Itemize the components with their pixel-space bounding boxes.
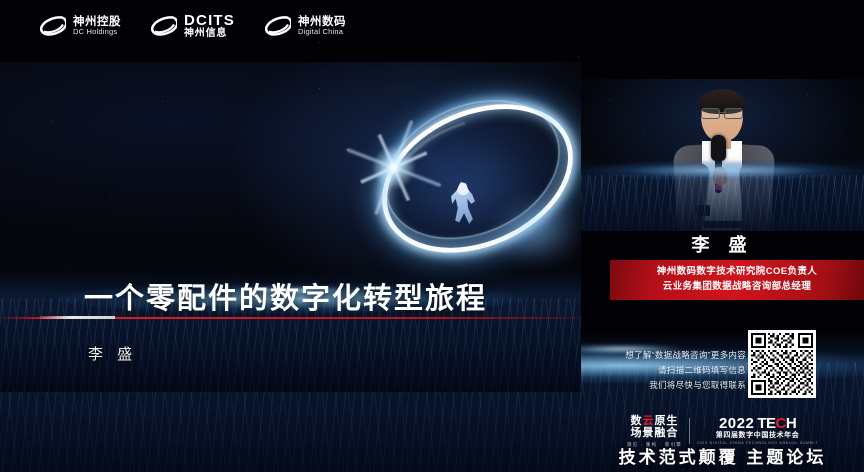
theme-char-shu: 数 [630,415,642,427]
video-horizon [581,159,864,231]
speaker-credentials-banner: 神州数码数字技术研究院COE负责人 云业务集团数据战略咨询部总经理 [610,260,864,300]
qr-line-2: 请扫描二维码填写信息 [625,363,746,378]
qr-instructions: 想了解“数据战略咨询”更多内容 请扫描二维码填写信息 我们将尽快与您取得联系 [625,348,746,393]
event-footer-bar: 数云原生 场景融合 洞见 · 重构 · 新引擎 2022 TECH 第四届数字中… [581,412,864,472]
logo-dcits: DCITS 神州信息 [151,13,235,39]
presentation-slide[interactable]: 一个零配件的数字化转型旅程 李 盛 [0,62,581,392]
credential-line-1: 神州数码数字技术研究院COE负责人 [610,265,864,280]
tech-h: H [786,415,796,432]
video-horizon-grid [581,175,864,231]
event-year-tech: 2022 TECH [719,416,796,433]
event-name-block: 2022 TECH 第四届数字中国技术年会 2022 DIGITAL CHINA… [697,416,818,446]
logo-name-en: Digital China [298,28,346,36]
logo-dc-holdings: 神州控股 DC Holdings [40,16,121,36]
logo-name-en: 神州信息 [184,29,235,40]
ring-glow [492,196,581,266]
speaker-name: 李 盛 [581,231,864,257]
theme-char-yun: 云 [642,415,654,427]
logo-name-cn: DCITS [184,13,235,29]
event-year: 2022 [719,416,754,433]
digital-china-swoosh-icon [265,16,291,36]
event-theme-line-1: 数云原生 [630,415,678,427]
portal-ring-graphic [352,76,581,266]
qr-promo-block: 想了解“数据战略咨询”更多内容 请扫描二维码填写信息 我们将尽快与您取得联系 [581,325,864,405]
forum-title: 技术范式颠覆 主题论坛 [581,443,864,468]
event-logo-lockup: 数云原生 场景融合 洞见 · 重构 · 新引擎 2022 TECH 第四届数字中… [581,415,864,447]
logo-name-en: DC Holdings [73,28,121,36]
tech-te: TE [757,415,775,432]
digital-china-swoosh-icon [151,16,177,36]
theme-char-yuansheng: 原生 [654,415,678,427]
credential-line-2: 云业务集团数据战略咨询部总经理 [610,280,864,295]
slide-title: 一个零配件的数字化转型旅程 [84,275,487,317]
digital-china-swoosh-icon [40,16,66,36]
qr-line-1: 想了解“数据战略咨询”更多内容 [625,348,746,363]
microphone-icon [711,135,726,161]
screen-root: 神州控股 DC Holdings DCITS 神州信息 神州数码 Digital… [0,0,864,472]
speaker-video-feed[interactable] [581,79,864,231]
logo-text-block: 神州数码 Digital China [298,16,346,36]
logo-text-block: DCITS 神州信息 [184,13,235,39]
glasses-icon [700,108,744,118]
event-conference-name: 第四届数字中国技术年会 [716,432,800,440]
brand-logo-bar: 神州控股 DC Holdings DCITS 神州信息 神州数码 Digital… [0,0,864,52]
title-underline-highlight [40,316,115,319]
speaker-panel: 李 盛 神州数码数字技术研究院COE负责人 云业务集团数据战略咨询部总经理 想了… [581,0,864,472]
event-theme-block: 数云原生 场景融合 洞见 · 重构 · 新引擎 [627,415,682,447]
qr-code-image [751,333,813,395]
qr-code[interactable] [748,330,816,398]
logo-text-block: 神州控股 DC Holdings [73,16,121,36]
qr-line-3: 我们将尽快与您取得联系 [625,378,746,393]
event-theme-line-2: 场景融合 [630,427,678,439]
slide-speaker-name: 李 盛 [88,343,137,364]
event-tech-wordmark: TECH [757,416,796,433]
logo-digital-china: 神州数码 Digital China [265,16,346,36]
tech-c: C [775,415,785,432]
logo-divider [689,418,690,444]
